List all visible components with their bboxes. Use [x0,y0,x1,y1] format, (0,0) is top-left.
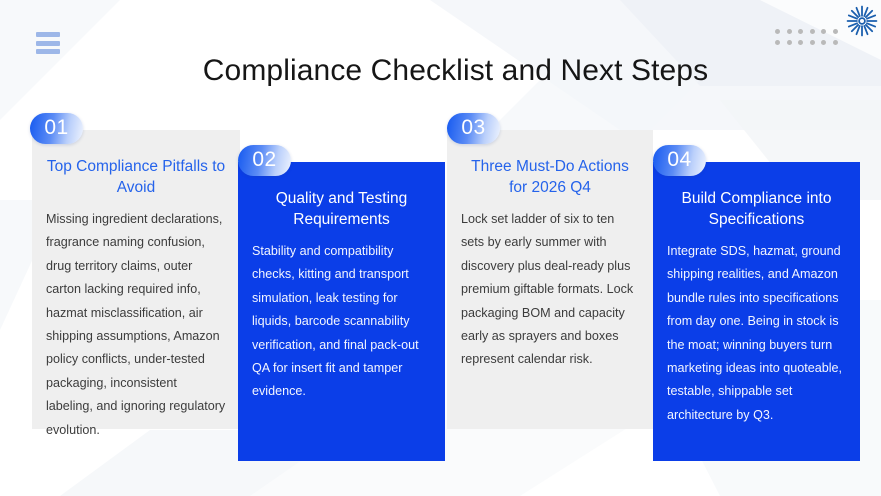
card-03-number: 03 [461,117,485,138]
page-title: Compliance Checklist and Next Steps [0,54,881,88]
hamburger-bar-1 [36,32,60,37]
card-02-number-badge: 02 [238,145,291,176]
hamburger-menu-icon[interactable] [36,32,60,54]
card-02-title: Quality and Testing Requirements [252,188,431,230]
card-01-body: Missing ingredient declarations, fragran… [46,208,226,442]
card-03-body: Lock set ladder of six to ten sets by ea… [461,208,639,372]
card-02-body: Stability and compatibility checks, kitt… [252,240,431,404]
card-01-title: Top Compliance Pitfalls to Avoid [46,156,226,198]
card-04-number: 04 [667,149,691,170]
card-04[interactable]: Build Compliance into Specifications Int… [653,162,860,461]
header-bar: Compliance Checklist and Next Steps [0,0,881,110]
card-03[interactable]: Three Must-Do Actions for 2026 Q4 Lock s… [447,130,653,429]
card-03-number-badge: 03 [447,113,500,144]
card-03-title: Three Must-Do Actions for 2026 Q4 [461,156,639,198]
card-02[interactable]: Quality and Testing Requirements Stabili… [238,162,445,461]
dot-grid-decoration [775,29,839,47]
card-04-number-badge: 04 [653,145,706,176]
sunburst-flower-logo [845,4,879,38]
card-01-number: 01 [44,117,68,138]
card-01-number-badge: 01 [30,113,83,144]
hamburger-bar-2 [36,41,60,46]
card-01[interactable]: Top Compliance Pitfalls to Avoid Missing… [32,130,240,429]
card-04-title: Build Compliance into Specifications [667,188,846,230]
card-02-number: 02 [252,149,276,170]
card-04-body: Integrate SDS, hazmat, ground shipping r… [667,240,846,427]
